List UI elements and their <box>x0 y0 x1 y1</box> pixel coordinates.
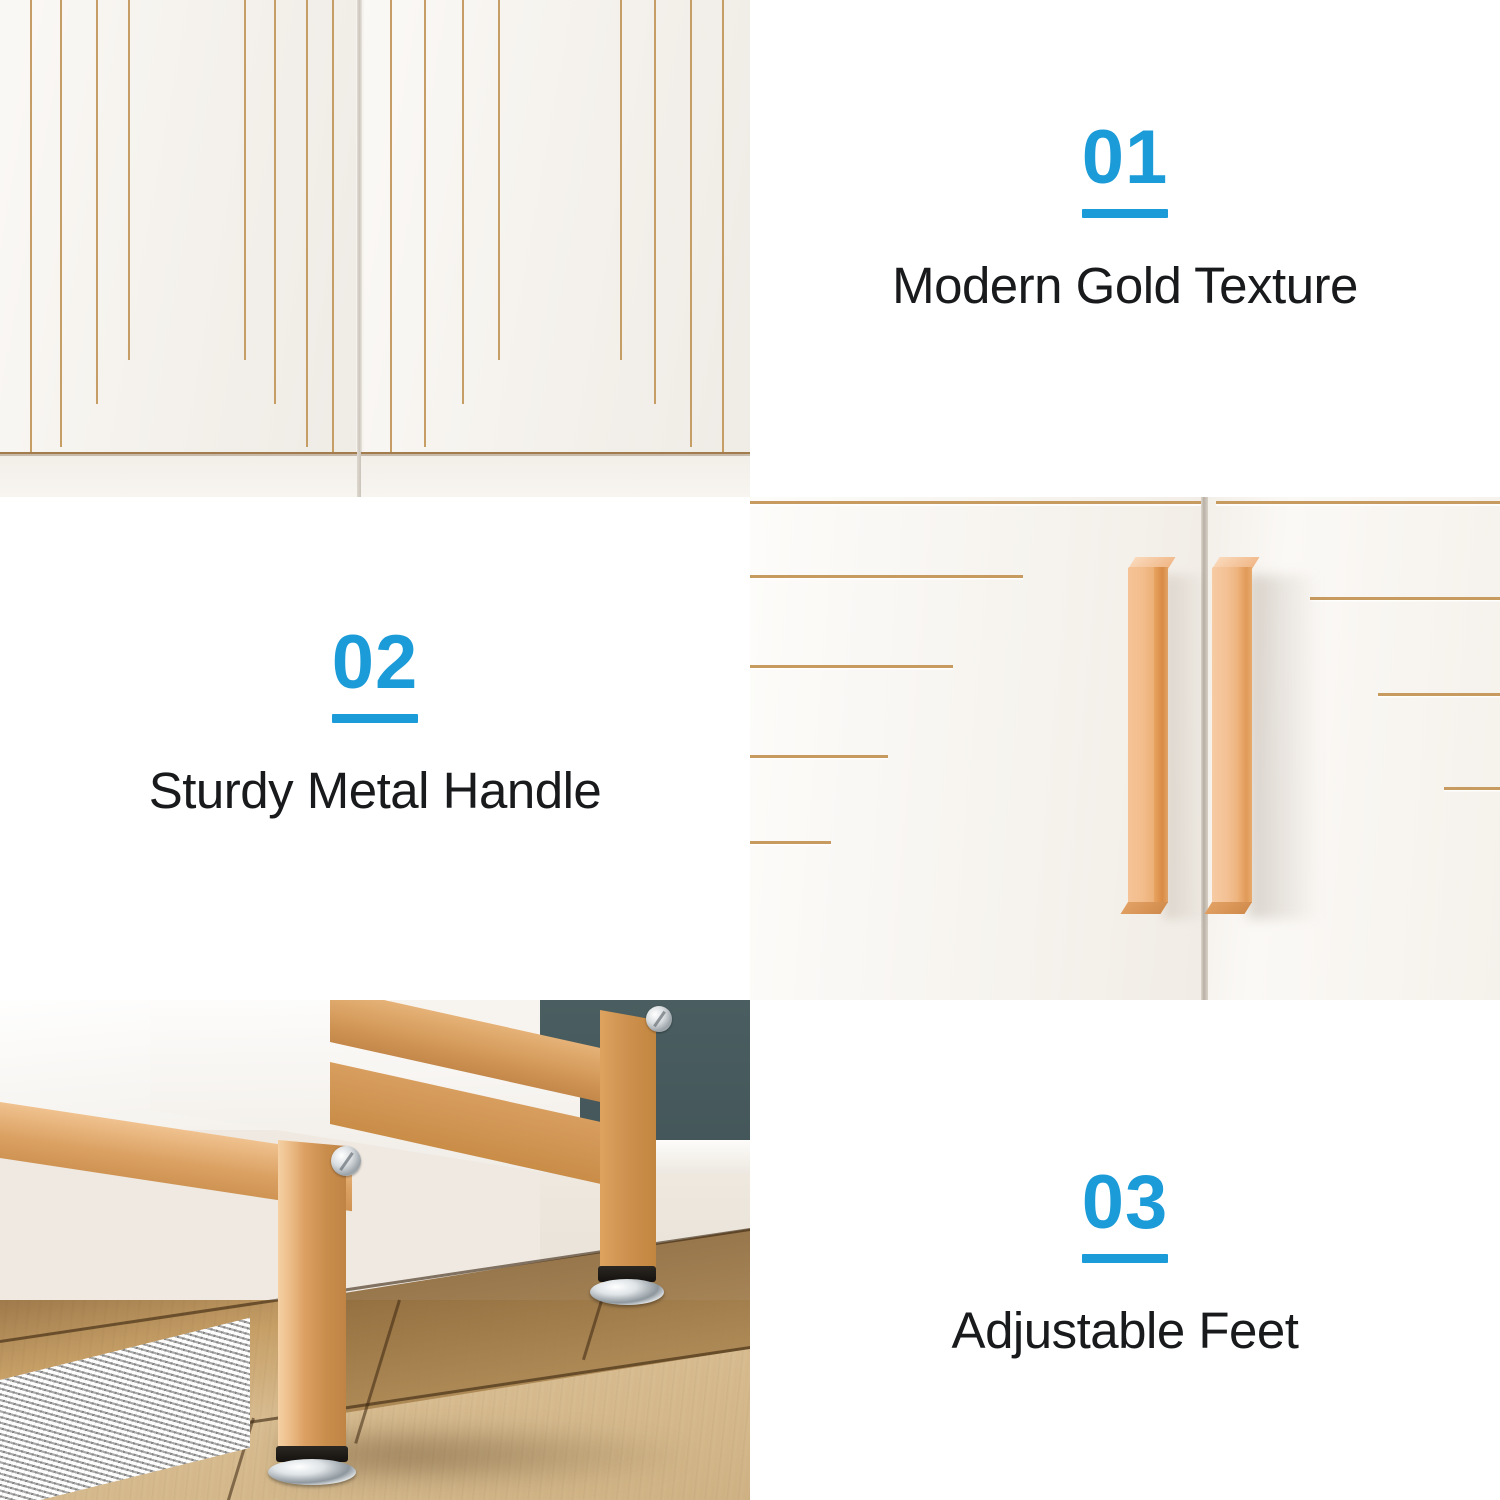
handle-scene <box>750 497 1500 1000</box>
metal-handle-right[interactable] <box>1212 567 1252 903</box>
cabinet-leg-back <box>600 1010 656 1280</box>
handle-right-shadow <box>1248 575 1320 919</box>
handle-groove-top-right <box>1216 501 1500 504</box>
feature-01-text-cell: 01 Modern Gold Texture <box>750 0 1500 497</box>
foot-back-pad <box>590 1279 664 1305</box>
plinth-shadow-line <box>0 452 750 456</box>
door-center-seam <box>357 0 362 497</box>
feature-01-number: 01 <box>1082 120 1169 196</box>
feature-03-underline <box>1082 1254 1169 1263</box>
feature-01-number-group: 01 <box>1082 120 1169 218</box>
leg-screw-front <box>331 1146 361 1176</box>
feature-03-textblock: 03 Adjustable Feet <box>750 1165 1500 1359</box>
feature-02-underline <box>332 714 419 723</box>
feature-03-number: 03 <box>1082 1165 1169 1241</box>
feature-02-number: 02 <box>332 625 419 701</box>
handle-left-shadow <box>1164 575 1210 919</box>
plinth-seam <box>357 452 361 497</box>
feature-02-textblock: 02 Sturdy Metal Handle <box>0 625 750 819</box>
feature-01-textblock: 01 Modern Gold Texture <box>750 120 1500 314</box>
cabinet-door-scene <box>0 0 750 497</box>
handle-left-edge <box>1154 567 1168 903</box>
adjustable-feet-photo <box>0 1000 750 1500</box>
feature-03-number-group: 03 <box>1082 1165 1169 1263</box>
handle-right-bottom-cap <box>1205 902 1252 914</box>
feet-scene <box>0 1000 750 1500</box>
gold-texture-photo <box>0 0 750 497</box>
handle-right-edge <box>1238 567 1252 903</box>
feature-02-number-group: 02 <box>332 625 419 723</box>
handle-left-face <box>1128 567 1154 903</box>
handle-right-face <box>1212 567 1238 903</box>
handle-groove-top-left <box>750 501 1202 504</box>
handle-groove-l4 <box>750 841 831 1000</box>
cabinet-plinth <box>0 452 750 497</box>
handle-left-bottom-cap <box>1121 902 1168 914</box>
feature-02-caption: Sturdy Metal Handle <box>149 763 602 819</box>
feature-03-caption: Adjustable Feet <box>952 1303 1299 1359</box>
infographic-sheet: 01 Modern Gold Texture 02 Sturdy Metal H… <box>0 0 1500 1500</box>
feature-01-caption: Modern Gold Texture <box>892 258 1358 314</box>
groove-ring-core-right <box>498 0 622 360</box>
metal-handle-left[interactable] <box>1128 567 1168 903</box>
metal-handle-photo <box>750 497 1500 1000</box>
leg-front-highlight <box>278 1140 304 1452</box>
leg-screw-back <box>646 1006 672 1032</box>
feature-03-text-cell: 03 Adjustable Feet <box>750 1000 1500 1500</box>
foot-front-pad <box>268 1459 356 1485</box>
handle-groove-r3 <box>1444 787 1500 1000</box>
feature-02-text-cell: 02 Sturdy Metal Handle <box>0 497 750 1000</box>
groove-ring-core-left <box>128 0 246 360</box>
feature-01-underline <box>1082 209 1169 218</box>
